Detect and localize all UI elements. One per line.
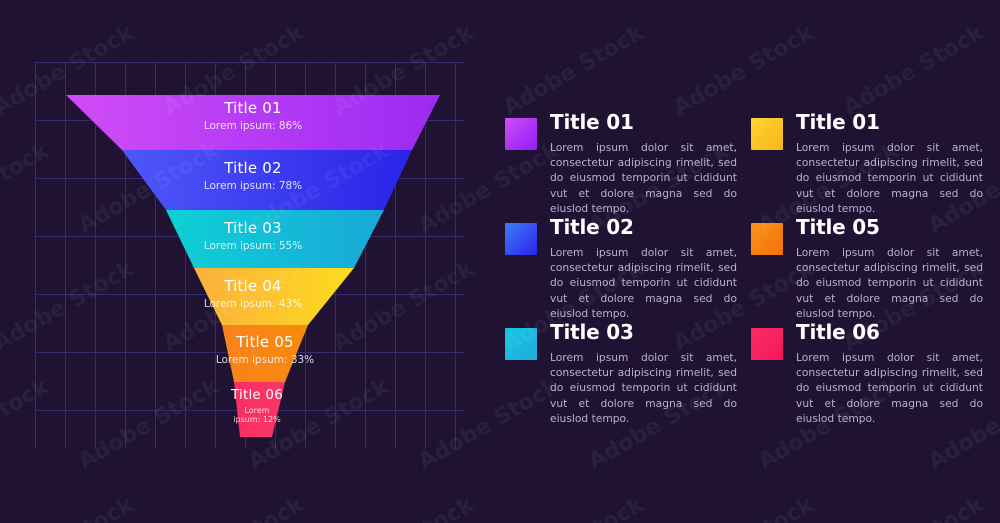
funnel-segment-5 <box>222 325 308 382</box>
legend-title-3: Title 02 <box>550 217 737 237</box>
watermark-tile: Adobe Stock <box>839 492 988 523</box>
watermark-tile: Adobe Stock <box>499 492 648 523</box>
legend-body-2: Lorem ipsum dolor sit amet, consectetur … <box>796 140 983 216</box>
legend-item-3[interactable]: Title 02 Lorem ipsum dolor sit amet, con… <box>505 217 737 322</box>
funnel-segment-4 <box>194 268 354 325</box>
legend-item-2[interactable]: Title 01 Lorem ipsum dolor sit amet, con… <box>751 112 983 217</box>
watermark-tile: Adobe Stock <box>669 492 818 523</box>
watermark-tile: Adobe Stock <box>839 20 988 120</box>
legend-title-5: Title 03 <box>550 322 737 342</box>
legend-swatch-6 <box>751 328 783 360</box>
watermark-tile: Adobe Stock <box>669 20 818 120</box>
watermark-tile: Adobe Stock <box>754 0 903 3</box>
legend-item-5[interactable]: Title 03 Lorem ipsum dolor sit amet, con… <box>505 322 737 427</box>
funnel-segment-1 <box>66 95 440 150</box>
watermark-tile: Adobe Stock <box>584 0 733 3</box>
legend-item-6[interactable]: Title 06 Lorem ipsum dolor sit amet, con… <box>751 322 983 427</box>
legend-swatch-3 <box>505 223 537 255</box>
legend-title-6: Title 06 <box>796 322 983 342</box>
legend-title-4: Title 05 <box>796 217 983 237</box>
legend-body-4: Lorem ipsum dolor sit amet, consectetur … <box>796 245 983 321</box>
funnel-segment-3 <box>166 210 384 268</box>
funnel-segment-6 <box>234 382 285 437</box>
legend-item-4[interactable]: Title 05 Lorem ipsum dolor sit amet, con… <box>751 217 983 322</box>
legend-title-1: Title 01 <box>550 112 737 132</box>
legend-body-3: Lorem ipsum dolor sit amet, consectetur … <box>550 245 737 321</box>
legend-body-6: Lorem ipsum dolor sit amet, consectetur … <box>796 350 983 426</box>
funnel-chart <box>0 0 520 523</box>
legend: Title 01 Lorem ipsum dolor sit amet, con… <box>505 112 983 432</box>
funnel-segment-2 <box>122 150 412 210</box>
legend-swatch-5 <box>505 328 537 360</box>
watermark-tile: Adobe Stock <box>499 20 648 120</box>
infographic-canvas: Title 01 Lorem ipsum: 86% Title 02 Lorem… <box>0 0 1000 523</box>
legend-item-1[interactable]: Title 01 Lorem ipsum dolor sit amet, con… <box>505 112 737 217</box>
legend-swatch-4 <box>751 223 783 255</box>
watermark-tile: Adobe Stock <box>924 0 1000 3</box>
legend-swatch-2 <box>751 118 783 150</box>
legend-body-5: Lorem ipsum dolor sit amet, consectetur … <box>550 350 737 426</box>
legend-body-1: Lorem ipsum dolor sit amet, consectetur … <box>550 140 737 216</box>
legend-swatch-1 <box>505 118 537 150</box>
legend-title-2: Title 01 <box>796 112 983 132</box>
